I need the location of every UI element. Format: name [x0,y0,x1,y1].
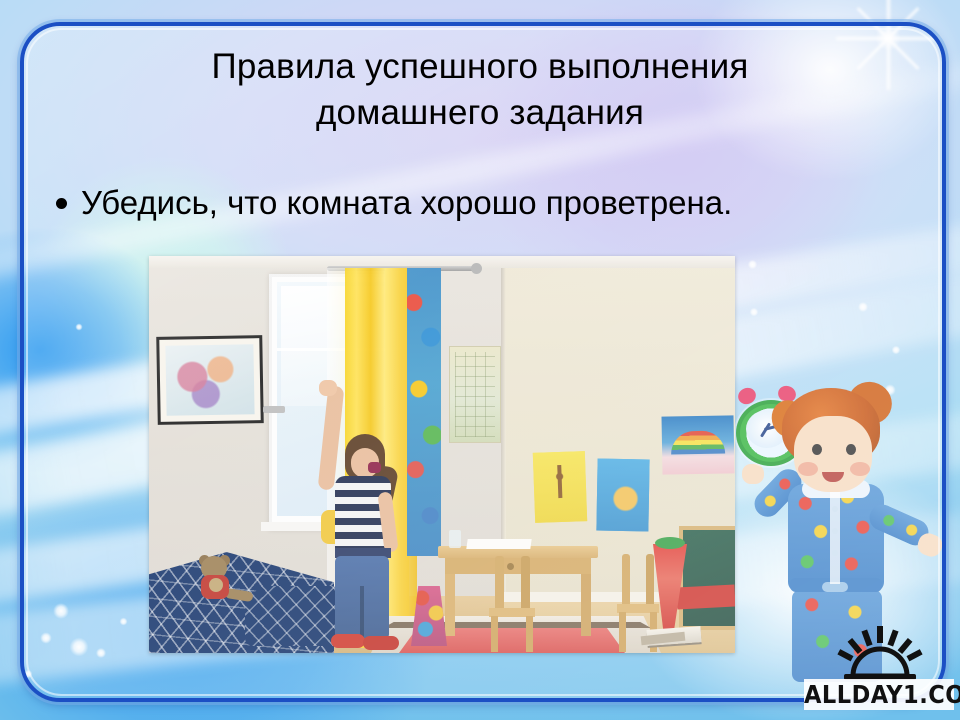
title-line-2: домашнего задания [70,90,890,136]
bokeh-dot [890,344,902,356]
room-photo [149,256,735,653]
patterned-curtain [407,268,441,556]
allday1-logo[interactable]: ALLDAY1.COM [804,622,954,718]
bokeh-dot [22,668,34,680]
bokeh-dot [74,322,84,332]
page-title: Правила успешного выполнения домашнего з… [70,44,890,136]
bokeh-dot [748,306,760,318]
logo-text: ALLDAY1.COM [804,679,954,710]
window-handle-icon [263,406,285,413]
child-drawing [533,451,587,523]
wall-poster [449,346,501,443]
chalkboard [679,526,735,630]
bokeh-dot [50,600,72,622]
bokeh-dot [66,634,92,660]
bokeh-dot [94,646,108,660]
bokeh-dot [118,616,129,627]
title-line-1: Правила успешного выполнения [70,44,890,90]
child-drawing [596,459,649,532]
sunrise-icon [836,626,924,682]
wooden-chair [489,556,535,652]
framed-picture [156,335,264,425]
bokeh-dot [856,300,870,314]
bullet-item-label: Убедись, что комната хорошо проветрена. [81,182,732,224]
bullet-list-item: Убедись, что комната хорошо проветрена. [56,182,916,224]
bokeh-dot [38,630,54,646]
bullet-marker-icon [56,198,67,209]
child-drawing [661,415,734,474]
presentation-slide: Правила успешного выполнения домашнего з… [0,0,960,720]
bokeh-dot [746,258,759,271]
